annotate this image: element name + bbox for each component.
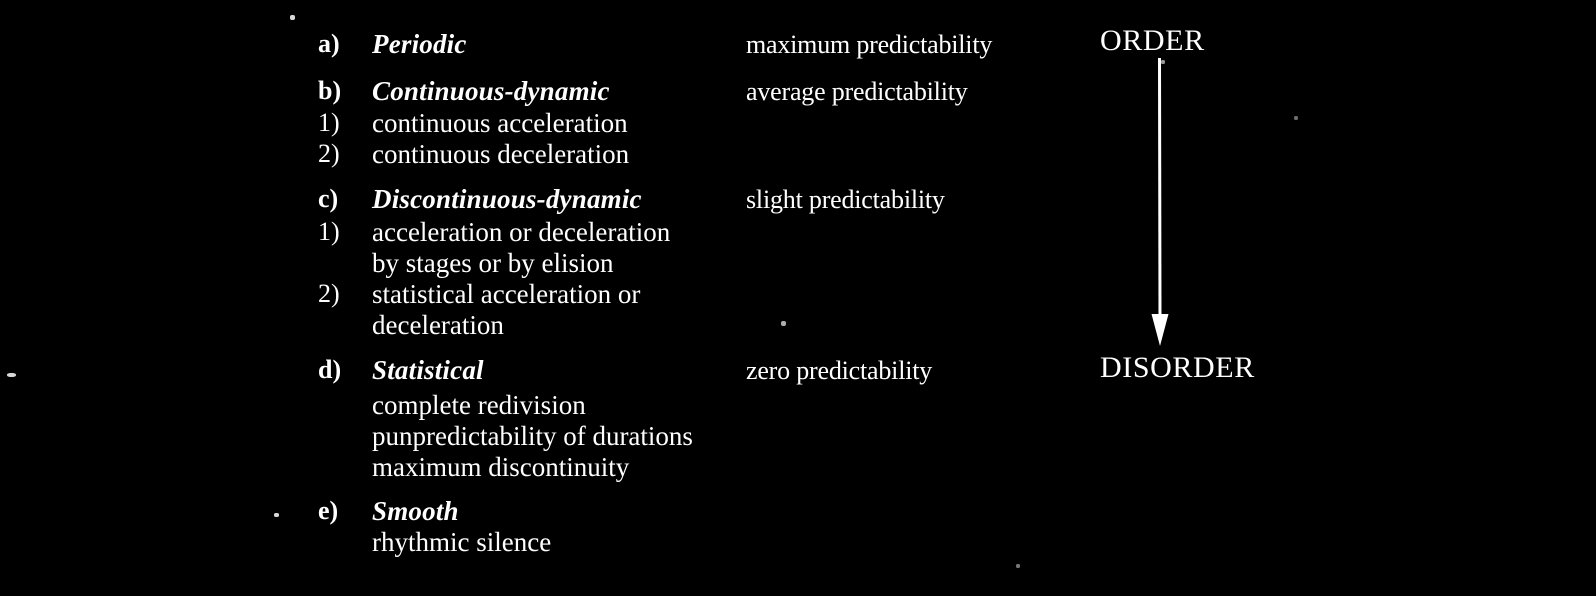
entry-term-b: Continuous-dynamic [372, 76, 732, 106]
scan-speck [1294, 116, 1298, 120]
entry-d-line3: maximum discontinuity [372, 452, 732, 482]
scan-speck [7, 373, 16, 377]
entry-b-sub1-line1: continuous acceleration [372, 108, 732, 138]
order-to-disorder-arrow-icon [1146, 58, 1176, 348]
entry-predictability-b: average predictability [746, 77, 1076, 107]
entry-term-e: Smooth [372, 496, 732, 526]
scan-speck [1016, 564, 1020, 568]
entry-b-sub2-line1: continuous deceleration [372, 139, 732, 169]
entry-marker-e: e) [318, 496, 366, 526]
scan-speck [781, 321, 786, 326]
entry-c-sub2-marker: 2) [318, 279, 366, 309]
scan-speck [290, 15, 295, 20]
entry-predictability-c: slight predictability [746, 185, 1076, 215]
scan-speck [1161, 60, 1165, 64]
entry-b-sub2-marker: 2) [318, 139, 366, 169]
entry-marker-d: d) [318, 355, 366, 385]
entry-c-sub2-line1: statistical acceleration or [372, 279, 732, 309]
entry-marker-b: b) [318, 76, 366, 106]
scan-speck [274, 513, 279, 517]
entry-term-c: Discontinuous-dynamic [372, 184, 732, 214]
pole-disorder-label: DISORDER [1100, 352, 1340, 384]
entry-marker-a: a) [318, 29, 366, 59]
entry-c-sub2-line2: deceleration [372, 310, 732, 340]
entry-c-sub1-line1: acceleration or deceleration [372, 217, 732, 247]
entry-marker-c: c) [318, 184, 366, 214]
entry-e-line1: rhythmic silence [372, 527, 732, 557]
pole-order-label: ORDER [1100, 25, 1340, 57]
entry-d-line1: complete redivision [372, 390, 732, 420]
entry-c-sub1-marker: 1) [318, 217, 366, 247]
entry-term-a: Periodic [372, 29, 732, 59]
entry-b-sub1-marker: 1) [318, 108, 366, 138]
entry-predictability-d: zero predictability [746, 356, 1076, 386]
page-canvas: a) Periodic maximum predictability ORDER… [0, 0, 1596, 596]
entry-term-d: Statistical [372, 355, 732, 385]
entry-d-line2: punpredictability of durations [372, 421, 792, 451]
entry-predictability-a: maximum predictability [746, 30, 1076, 60]
entry-c-sub1-line2: by stages or by elision [372, 248, 732, 278]
